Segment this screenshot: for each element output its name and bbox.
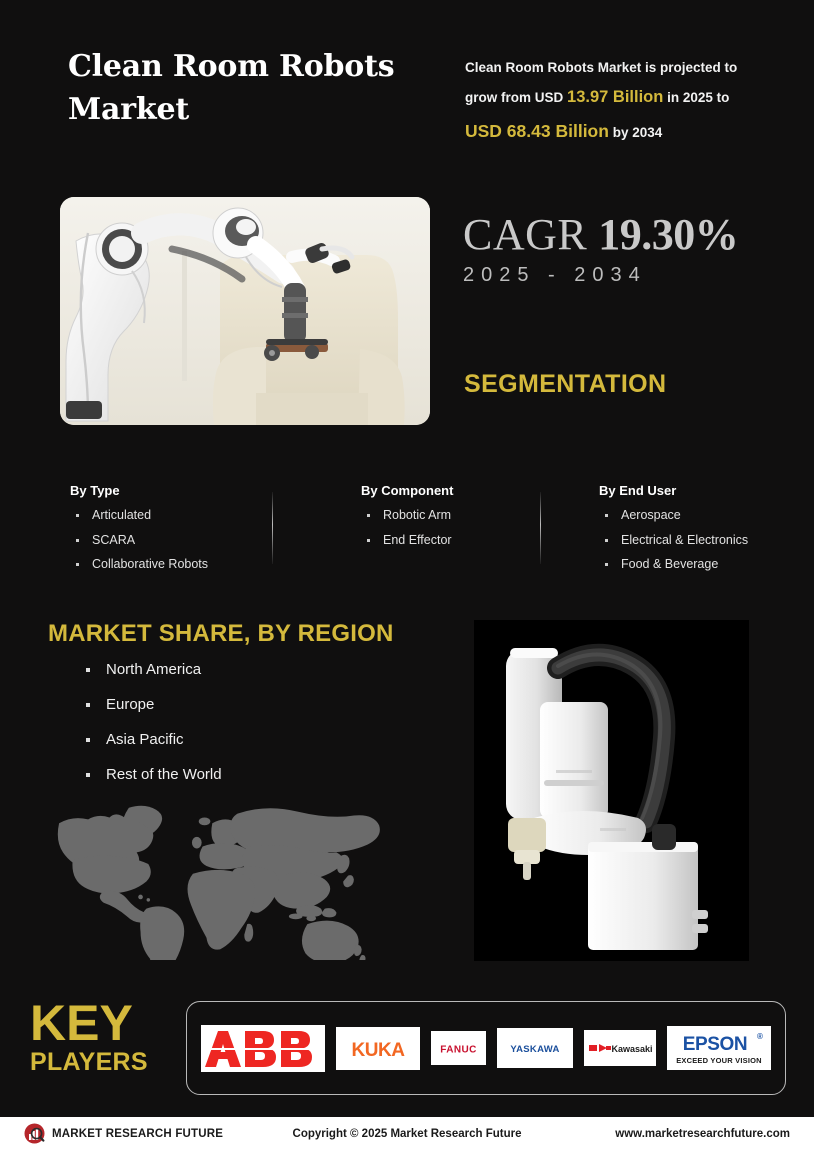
logo-kuka: KUKA bbox=[336, 1027, 420, 1070]
segmentation-column-by-component: By Component Robotic Arm End Effector bbox=[361, 483, 536, 558]
logo-fanuc: FANUC bbox=[431, 1031, 486, 1065]
world-map-icon bbox=[57, 800, 387, 960]
logo-yaskawa: YASKAWA bbox=[497, 1028, 573, 1068]
projection-to-value: USD 68.43 Billion bbox=[465, 121, 609, 141]
epson-logo-icon: EPSON ® EXCEED YOUR VISION bbox=[667, 1026, 771, 1070]
kawasaki-logo-icon: Kawasaki bbox=[584, 1030, 656, 1066]
footer: MARKET RESEARCH FUTURE Copyright © 2025 … bbox=[0, 1117, 814, 1150]
page-title: Clean Room Robots Market bbox=[68, 46, 438, 131]
svg-text:Kawasaki: Kawasaki bbox=[612, 1044, 653, 1054]
segmentation-column-by-end-user: By End User Aerospace Electrical & Elect… bbox=[599, 483, 799, 583]
scara-robot-photo bbox=[474, 620, 749, 961]
footer-url[interactable]: www.marketresearchfuture.com bbox=[615, 1128, 790, 1140]
cagr-years: 2025 - 2034 bbox=[463, 264, 738, 287]
segmentation-column-title: By Component bbox=[361, 483, 536, 498]
segmentation-column-title: By End User bbox=[599, 483, 799, 498]
cagr-value: 19.30% bbox=[598, 210, 738, 259]
projection-from-label: from USD bbox=[501, 90, 563, 105]
robot-arms-photo bbox=[60, 197, 430, 425]
segmentation-divider bbox=[272, 492, 273, 564]
list-item: North America bbox=[80, 662, 222, 677]
svg-text:®: ® bbox=[757, 1032, 763, 1041]
cagr-line: CAGR 19.30% bbox=[463, 212, 738, 258]
logo-epson: EPSON ® EXCEED YOUR VISION bbox=[667, 1026, 771, 1070]
projection-to-suffix: by 2034 bbox=[613, 125, 663, 140]
segmentation-heading: SEGMENTATION bbox=[464, 370, 666, 399]
yaskawa-logo-icon: YASKAWA bbox=[497, 1028, 573, 1068]
list-item: End Effector bbox=[361, 534, 536, 547]
list-item: Electrical & Electronics bbox=[599, 534, 799, 547]
abb-logo-icon bbox=[201, 1025, 325, 1072]
segmentation-divider bbox=[540, 492, 541, 564]
market-projection-text: Clean Room Robots Market is projected to… bbox=[465, 54, 770, 149]
market-share-heading: MARKET SHARE, BY REGION bbox=[48, 620, 394, 648]
key-players-line2: PLAYERS bbox=[30, 1050, 170, 1075]
robot-arms-illustration bbox=[60, 197, 430, 425]
segmentation-list: Articulated SCARA Collaborative Robots bbox=[70, 509, 265, 571]
cagr-label: CAGR bbox=[463, 210, 587, 259]
list-item: Robotic Arm bbox=[361, 509, 536, 522]
fanuc-logo-icon: FANUC bbox=[431, 1031, 486, 1065]
projection-mid: in 2025 to bbox=[667, 90, 729, 105]
list-item: Collaborative Robots bbox=[70, 558, 265, 571]
projection-from-value: 13.97 Billion bbox=[567, 88, 663, 106]
key-players-label: KEY PLAYERS bbox=[30, 1000, 170, 1075]
segmentation-list: Aerospace Electrical & Electronics Food … bbox=[599, 509, 799, 571]
list-item: SCARA bbox=[70, 534, 265, 547]
logo-abb bbox=[201, 1025, 325, 1072]
list-item: Food & Beverage bbox=[599, 558, 799, 571]
segmentation-column-by-type: By Type Articulated SCARA Collaborative … bbox=[70, 483, 265, 583]
kuka-logo-icon: KUKA bbox=[336, 1027, 420, 1070]
key-players-logos-container: KUKA FANUC YASKAWA Kawasaki bbox=[186, 1001, 786, 1095]
list-item: Aerospace bbox=[599, 509, 799, 522]
list-item: Rest of the World bbox=[80, 767, 222, 782]
key-players-line1: KEY bbox=[30, 1000, 170, 1046]
list-item: Europe bbox=[80, 697, 222, 712]
region-list: North America Europe Asia Pacific Rest o… bbox=[80, 662, 222, 802]
svg-text:EPSON: EPSON bbox=[683, 1034, 748, 1055]
svg-text:EXCEED YOUR VISION: EXCEED YOUR VISION bbox=[677, 1056, 763, 1065]
list-item: Asia Pacific bbox=[80, 732, 222, 747]
svg-text:FANUC: FANUC bbox=[440, 1045, 476, 1056]
world-map bbox=[57, 800, 387, 960]
infographic-poster: Clean Room Robots Market Clean Room Robo… bbox=[0, 0, 814, 1150]
svg-text:YASKAWA: YASKAWA bbox=[510, 1044, 559, 1055]
scara-robot-illustration bbox=[474, 620, 749, 961]
list-item: Articulated bbox=[70, 509, 265, 522]
svg-text:KUKA: KUKA bbox=[351, 1040, 405, 1061]
segmentation-column-title: By Type bbox=[70, 483, 265, 498]
segmentation-list: Robotic Arm End Effector bbox=[361, 509, 536, 546]
cagr-block: CAGR 19.30% 2025 - 2034 bbox=[463, 212, 738, 287]
logo-kawasaki: Kawasaki bbox=[584, 1030, 656, 1066]
